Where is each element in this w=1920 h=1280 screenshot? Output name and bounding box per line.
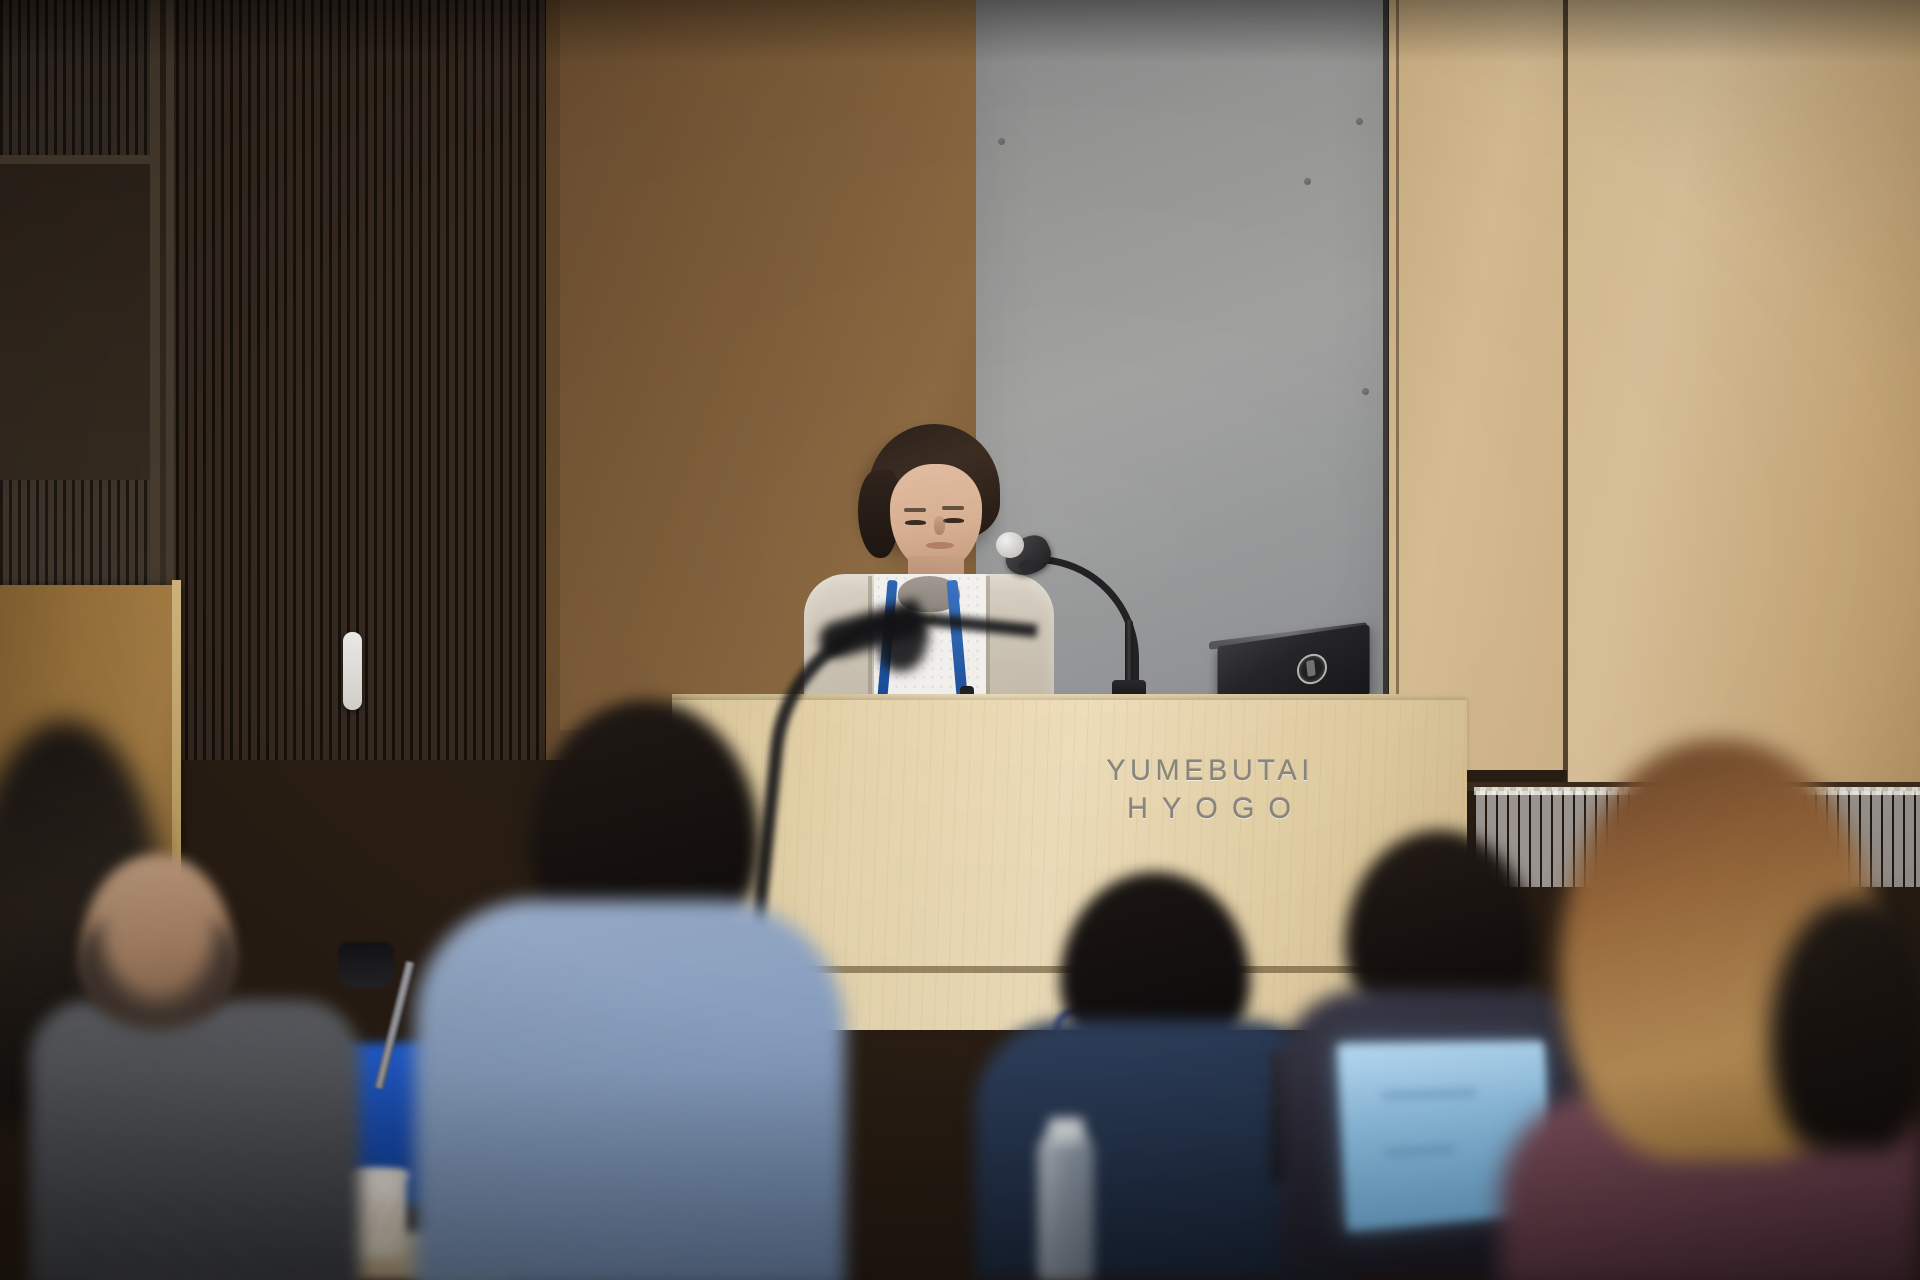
- venue-name-line-1: YUMEBUTAI: [1030, 755, 1390, 788]
- venue-branding: YUMEBUTAI HYOGO: [1030, 755, 1390, 832]
- microphone-windscreen: [996, 532, 1024, 558]
- audience-hair-b: [78, 900, 238, 1030]
- pale-birch-wall-b: [1567, 0, 1920, 790]
- pale-birch-wall-a: [1389, 0, 1567, 770]
- wall-frame-horizontal: [0, 155, 160, 164]
- wall-seam-b: [1563, 0, 1568, 790]
- water-bottle: [1038, 1132, 1094, 1280]
- audience-body-b: [30, 1000, 360, 1280]
- wall-mounted-device: [343, 632, 362, 710]
- speaker-mouth: [926, 542, 954, 549]
- audience-body-c: [415, 900, 845, 1280]
- desk-lamp-shade-left: [338, 942, 394, 988]
- slat-panel-upper-left: [0, 0, 150, 160]
- venue-name-line-2: HYOGO: [1030, 788, 1390, 832]
- speaker-nose: [934, 516, 945, 535]
- wall-seam-a: [1396, 0, 1399, 770]
- conference-photo: YUMEBUTAI HYOGO: [0, 0, 1920, 1280]
